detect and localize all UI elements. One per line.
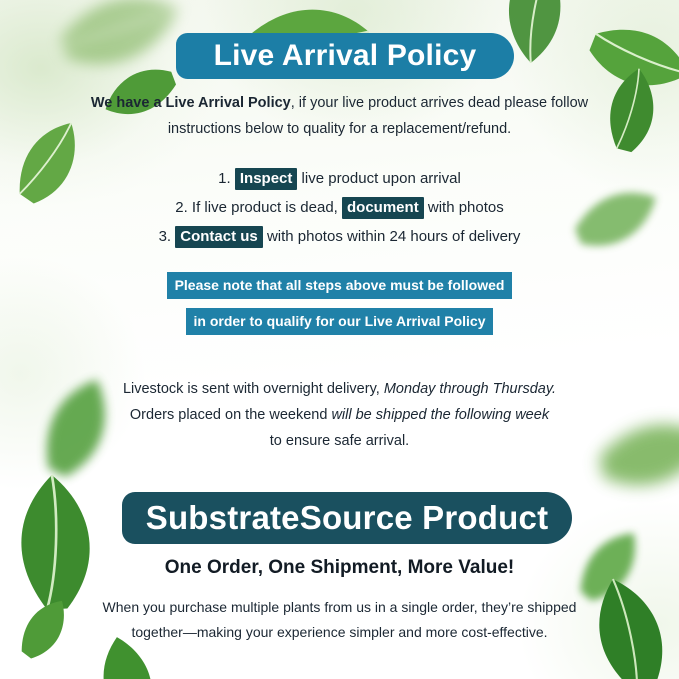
live-arrival-policy-graphic: Live Arrival Policy We have a Live Arriv… (0, 0, 679, 679)
closing-line-2: together—making your experience simpler … (0, 620, 679, 645)
step-3-highlight: Contact us (175, 226, 263, 248)
livestock-line-2: Orders placed on the weekend will be shi… (0, 402, 679, 428)
policy-note: Please note that all steps above must be… (0, 272, 679, 344)
policy-note-line-1: Please note that all steps above must be… (167, 272, 513, 299)
step-2-number: 2. (175, 199, 188, 216)
list-item: 2. If live product is dead, document wit… (0, 193, 679, 222)
intro-paragraph: We have a Live Arrival Policy, if your l… (0, 90, 679, 142)
substratesource-product-banner: SubstrateSource Product (122, 492, 572, 544)
policy-note-line-2: in order to qualify for our Live Arrival… (186, 308, 494, 335)
livestock-line-1: Livestock is sent with overnight deliver… (0, 376, 679, 402)
livestock-line-2-italic: will be shipped the following week (331, 407, 549, 423)
step-3-number: 3. (159, 228, 172, 245)
step-2-post: with photos (428, 199, 504, 216)
substratesource-body: When you purchase multiple plants from u… (0, 595, 679, 645)
livestock-line-2-plain: Orders placed on the weekend (130, 407, 328, 423)
live-arrival-policy-title: Live Arrival Policy (214, 39, 477, 73)
closing-line-1: When you purchase multiple plants from u… (0, 595, 679, 620)
list-item: 3. Contact us with photos within 24 hour… (0, 222, 679, 251)
livestock-line-1-plain: Livestock is sent with overnight deliver… (123, 381, 380, 397)
step-1-number: 1. (218, 170, 231, 187)
substratesource-subheading: One Order, One Shipment, More Value! (0, 557, 679, 579)
list-item: 1. Inspect live product upon arrival (0, 164, 679, 193)
livestock-paragraph: Livestock is sent with overnight deliver… (0, 376, 679, 454)
step-2-highlight: document (342, 197, 424, 219)
intro-line-1-rest: , if your live product arrives dead plea… (291, 95, 588, 111)
live-arrival-policy-banner: Live Arrival Policy (176, 33, 514, 79)
step-3-post: with photos within 24 hours of delivery (267, 228, 520, 245)
substratesource-product-title: SubstrateSource Product (146, 499, 549, 537)
livestock-line-1-italic: Monday through Thursday. (384, 381, 556, 397)
intro-line-1-bold: We have a Live Arrival Policy (91, 95, 291, 111)
steps-list: 1. Inspect live product upon arrival 2. … (0, 164, 679, 251)
livestock-line-3: to ensure safe arrival. (0, 428, 679, 454)
intro-line-1: We have a Live Arrival Policy, if your l… (0, 90, 679, 116)
step-2-pre: If live product is dead, (192, 199, 338, 216)
intro-line-2: instructions below to quality for a repl… (0, 116, 679, 142)
step-1-highlight: Inspect (235, 168, 298, 190)
step-1-post: live product upon arrival (302, 170, 461, 187)
